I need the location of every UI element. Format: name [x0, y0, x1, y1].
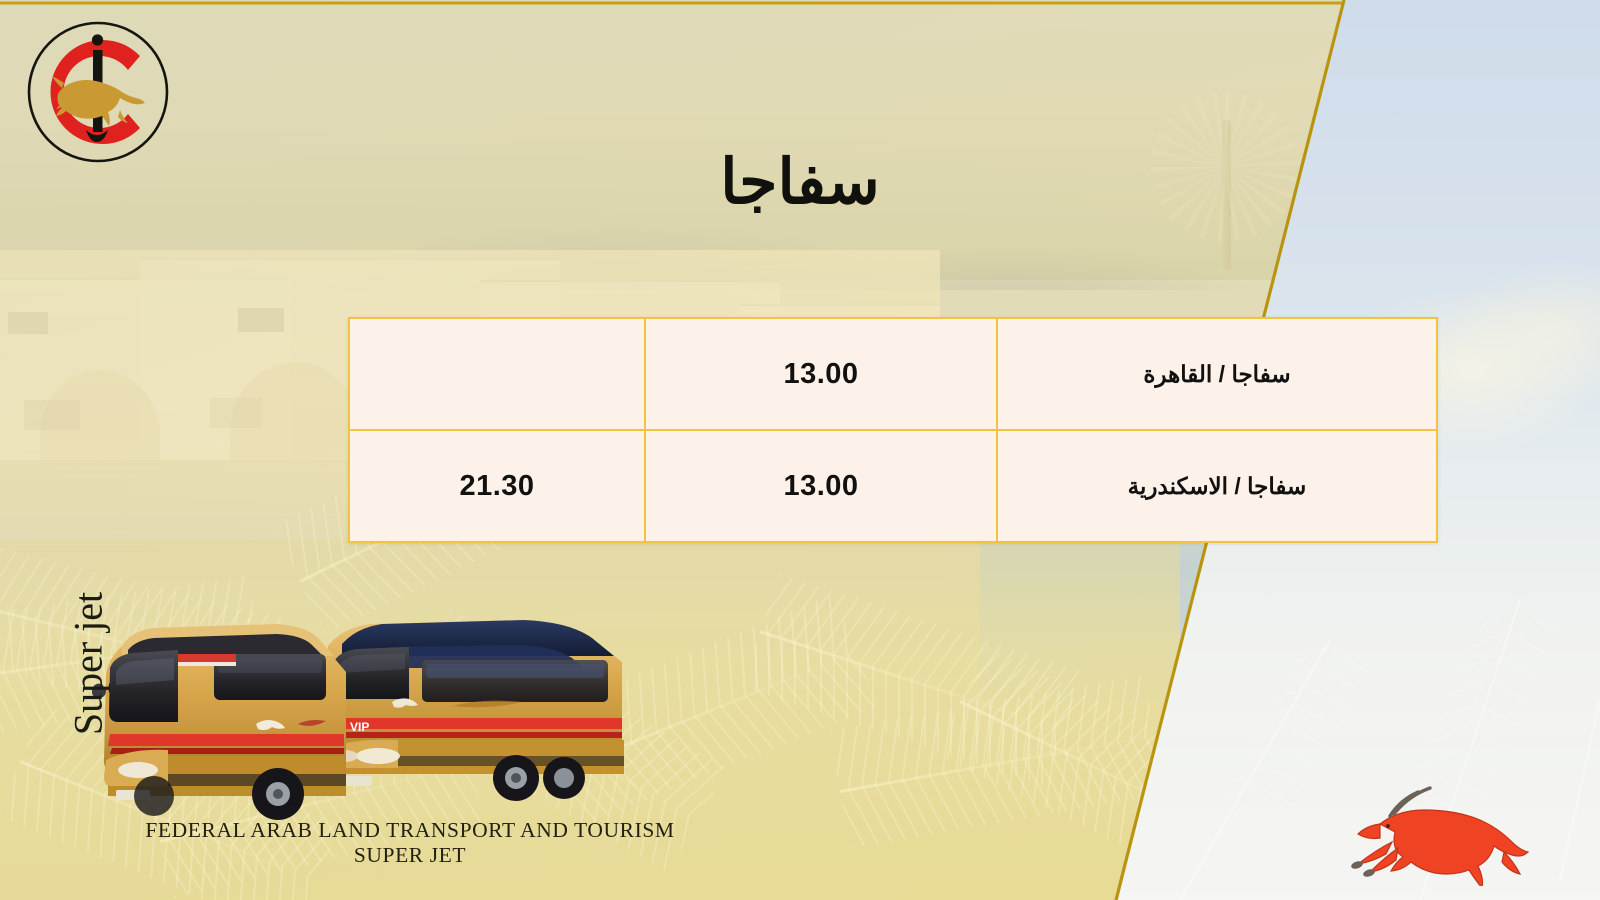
footer-company-name: FEDERAL ARAB LAND TRANSPORT AND TOURISM … — [60, 818, 760, 869]
cell-second-departure-row2: 13.00 — [645, 430, 997, 542]
cell-route-row2: سفاجا / الاسكندرية — [997, 430, 1437, 542]
bus-gold — [92, 624, 346, 820]
table-row: 13.00 سفاجا / القاهرة — [349, 318, 1437, 430]
cell-route-row1: سفاجا / القاهرة — [997, 318, 1437, 430]
cell-third-departure-row1 — [349, 318, 645, 430]
bus-vip: VIP — [326, 620, 624, 801]
footer-line-2: SUPER JET — [60, 843, 760, 868]
bus-fleet-image: VIP — [92, 598, 632, 830]
table-row: 21.30 13.00 سفاجا / الاسكندرية — [349, 430, 1437, 542]
fare-table: 13.00 سفاجا / القاهرة 21.30 13.00 سفاجا … — [348, 317, 1438, 543]
bus-vip-badge-text: VIP — [350, 720, 369, 734]
slide-canvas: سفاجا 13.00 سفاجا / القاهرة 21.30 13.00 … — [0, 0, 1600, 900]
company-logo — [24, 18, 172, 166]
page-title: سفاجا — [0, 152, 1600, 214]
cell-second-departure-row1: 13.00 — [645, 318, 997, 430]
footer-line-1: FEDERAL ARAB LAND TRANSPORT AND TOURISM — [60, 818, 760, 843]
logo-letter-dot — [92, 34, 103, 45]
cell-third-departure-row2: 21.30 — [349, 430, 645, 542]
gazelle-icon — [1334, 766, 1544, 886]
vertical-brand-label: Super jet — [65, 554, 112, 774]
